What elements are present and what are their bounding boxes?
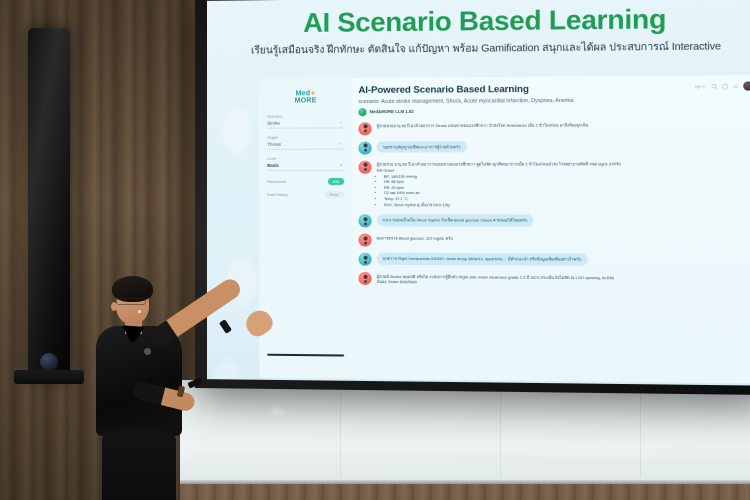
app-sidebar: Med✦ MORE Scenario Stroke ⌄ Organ Tho [259,78,352,379]
message-text: ผู้ป่วยมี Stroke หมดสติ หรือไม่ ระดับการ… [377,272,624,286]
vital-item: EKG: Sinus rhythm ดู เอ็มเวจ EKG 12lg [384,203,624,209]
chat-message: ผู้ป่วยมี Stroke หมดสติ หรือไม่ ระดับการ… [358,272,750,287]
app-mockup: Med✦ MORE Scenario Stroke ⌄ Organ Tho [259,75,750,383]
field-scenario-label: Scenario [267,114,344,118]
app-topbar-icons: Sign in [695,81,750,91]
field-organ-select[interactable]: Thorax ⌄ [267,141,344,150]
user-avatar [358,214,371,227]
past-history-label: Past History [267,193,288,197]
field-organ-label: Organ [267,135,344,139]
user-avatar [358,141,371,154]
chat-message: EKG ขอผลเป็นเป็น Sinus rhythm กับเช็ค Bl… [358,214,750,228]
chat-message: ผู้ป่วยชายอายุ 65 ปี มาด้วยอาการ Stroke … [358,120,750,135]
presenter-belt [100,428,176,436]
avatar[interactable] [743,81,750,90]
brand-line2: MORE [267,97,344,104]
search-icon[interactable] [711,83,717,89]
speaker-base [14,370,84,384]
brand-logo: Med✦ MORE [267,90,344,105]
vitals-list: BP: 180/100 mmHg HR: 88 bpm RR: 20 bpm O… [384,174,624,208]
presenter-legs [102,434,176,500]
field-level: Level Basic ⌄ [267,157,344,171]
field-level-label: Level [267,157,344,161]
slide-subtitle: เรียนรู้เสมือนจริง ฝึกทักษะ ตัดสินใจ แก้… [207,37,750,59]
chevron-down-icon: ⌄ [339,162,343,168]
chat-message: ผู้ป่วยชาย อายุ 65 ปี มาด้วยอาการแขนขาอ่… [358,159,750,208]
chat-message: ผลตรวจ Right hemiparesis แขนขา, facial d… [358,253,750,268]
presentation-scene: AI Scenario Based Learning เรียนรู้เสมือ… [0,0,750,500]
display-screen: AI Scenario Based Learning เรียนรู้เสมือ… [195,0,750,395]
lapel-mic-icon [138,310,141,313]
wall-skirting [180,484,750,500]
chat-thread: ผู้ป่วยชายอายุ 65 ปี มาด้วยอาการ Stroke … [358,120,750,287]
model-status-icon [358,108,366,116]
assistant-avatar [358,122,371,135]
help-icon[interactable] [722,83,728,89]
add-button[interactable]: Add [327,178,344,185]
sidebar-progress-bar [267,354,344,357]
slide-surface: AI Scenario Based Learning เรียนรู้เสมือ… [207,0,750,386]
message-text: ผู้ป่วยชาย อายุ 65 ปี มาด้วยอาการแขนขาอ่… [377,161,621,172]
model-chip: Med&MORE LLM 1.02 [358,106,750,116]
field-scenario: Scenario Stroke ⌄ [267,114,344,128]
scenario-line: scenario: Acute stroke management, Shock… [358,96,750,104]
model-name: Med&MORE LLM 1.02 [370,109,414,114]
field-level-value: Basic [267,163,279,168]
slide-title: AI Scenario Based Learning [207,3,750,40]
assistant-avatar [358,234,371,247]
chevron-down-icon: ⌄ [339,141,343,147]
randomize-label: Randomize [267,179,286,183]
sidebar-row-randomize: Randomize Add [267,178,344,185]
field-scenario-value: Stroke [267,121,280,126]
chevron-down-icon: ⌄ [339,119,343,125]
presenter-face [116,298,146,305]
presentation-clicker [187,377,202,388]
bell-icon[interactable] [733,83,739,89]
app-main: Sign in AI-Powered Scenario Based Learni… [352,75,750,383]
signin-link[interactable]: Sign in [695,84,705,88]
field-organ-value: Thorax [267,142,281,147]
message-text: ผลการตรวจ Blood glucose: 110 mg/dL ครับ [377,234,453,241]
chat-message: ผลการตรวจ Blood glucose: 110 mg/dL ครับ [358,234,750,248]
reset-button[interactable]: Reset [324,191,344,198]
presenter [78,262,218,500]
shirt-logo [144,348,151,355]
field-level-select[interactable]: Basic ⌄ [267,162,344,171]
field-organ: Organ Thorax ⌄ [267,135,344,149]
message-text: ผลตรวจ Right hemiparesis แขนขา, facial d… [377,253,588,266]
message-text: EKG ขอผลเป็นเป็น Sinus rhythm กับเช็ค Bl… [377,214,534,226]
slide-header: AI Scenario Based Learning เรียนรู้เสมือ… [207,3,750,59]
user-avatar [358,253,371,266]
main-title: AI-Powered Scenario Based Learning [358,82,750,96]
chat-message: ขอทราบสัญญาณชีพและอาการผู้ป่วยด้วยครับ [358,140,750,154]
assistant-avatar [358,272,371,285]
message-text: ผู้ป่วยชายอายุ 65 ปี มาด้วยอาการ Stroke … [377,121,589,129]
loudspeaker [28,28,70,378]
field-scenario-select[interactable]: Stroke ⌄ [267,119,344,128]
assistant-avatar [358,160,371,173]
message-text-block: ผู้ป่วยชาย อายุ 65 ปี มาด้วยอาการแขนขาอ่… [377,160,624,209]
sidebar-row-history: Past History Reset [267,191,344,198]
message-text: ขอทราบสัญญาณชีพและอาการผู้ป่วยด้วยครับ [377,141,467,153]
